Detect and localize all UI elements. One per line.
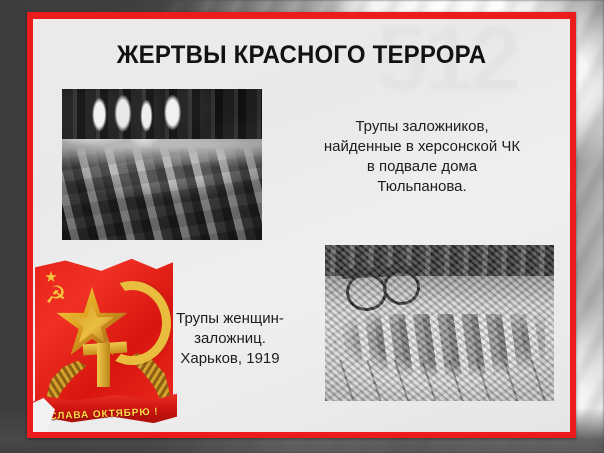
soviet-poster-emblem: ☭ СЛАВА ОКТЯБРЮ ! bbox=[33, 255, 179, 432]
caption-hostages: Трупы заложников, найденные в херсонской… bbox=[283, 117, 561, 197]
caption-hostages-line-3: в подвале дома bbox=[283, 157, 561, 177]
caption-hostages-line-1: Трупы заложников, bbox=[283, 117, 561, 137]
photo1-bodies-layer bbox=[62, 89, 262, 240]
hammer-handle-icon bbox=[97, 343, 110, 387]
caption-hostages-line-2: найденные в херсонской ЧК bbox=[283, 137, 561, 157]
caption-hostages-line-4: Тюльпанова. bbox=[283, 177, 561, 197]
slide-content-face: 512 ЖЕРТВЫ КРАСНОГО ТЕРРОРА Трупы заложн… bbox=[33, 19, 570, 432]
photo-hostages-kherson bbox=[62, 89, 262, 240]
photo2-film-grain bbox=[325, 245, 554, 401]
photo-women-kharkov bbox=[325, 245, 554, 401]
page-title: ЖЕРТВЫ КРАСНОГО ТЕРРОРА bbox=[44, 41, 560, 70]
hammer-sickle-icon: ☭ bbox=[45, 281, 75, 311]
slide-root: 512 ЖЕРТВЫ КРАСНОГО ТЕРРОРА Трупы заложн… bbox=[0, 0, 604, 453]
